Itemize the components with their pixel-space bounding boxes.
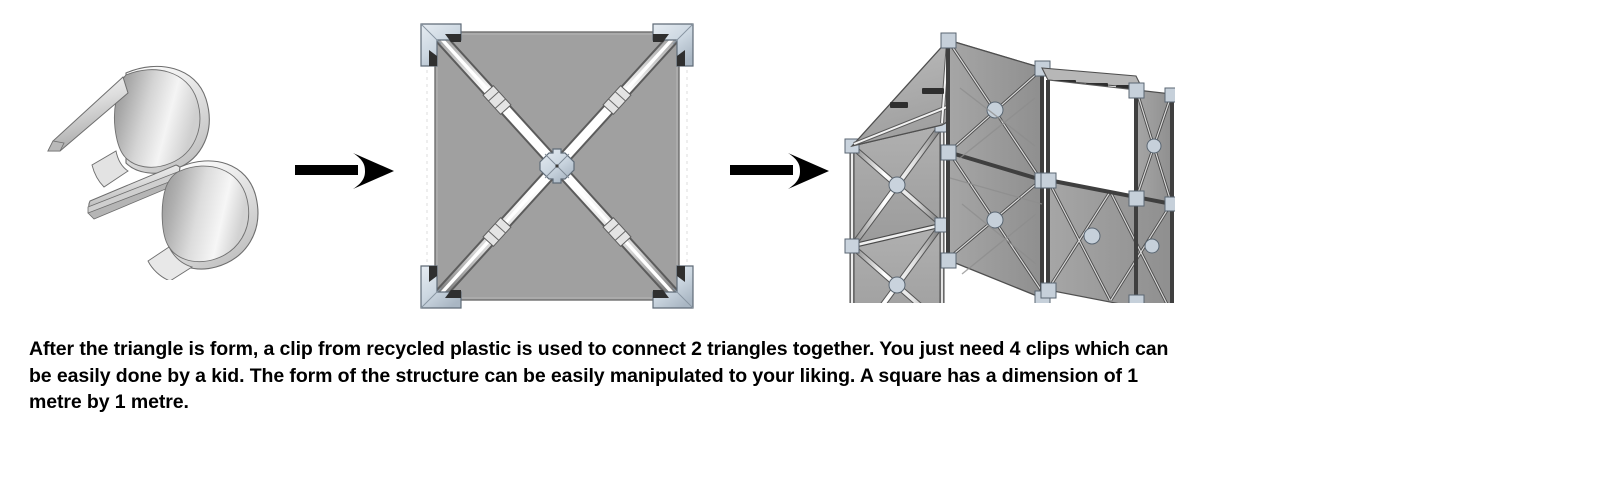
caption-text: After the triangle is form, a clip from …: [29, 336, 1189, 416]
structure-left-wing: [845, 118, 949, 303]
diagram-page: After the triangle is form, a clip from …: [0, 0, 1600, 481]
arrow-two-icon: [730, 148, 830, 194]
arrow-one-icon: [295, 148, 395, 194]
arrow-two-shaft: [730, 165, 793, 175]
structure-illustration: [830, 28, 1175, 303]
arrow-two-head: [788, 153, 829, 189]
square-panel-illustration: [415, 20, 700, 310]
clip-upper-lip: [92, 151, 128, 187]
clip-illustration: [30, 55, 280, 280]
arrow-one-head: [353, 153, 394, 189]
panel-center-hub: [540, 149, 574, 183]
structure-right-section: [1041, 68, 1175, 303]
assembly-sequence: [0, 0, 1600, 325]
arrow-one-shaft: [295, 165, 358, 175]
right-open-window: [1048, 80, 1136, 198]
clip-upper-inner: [114, 70, 199, 168]
